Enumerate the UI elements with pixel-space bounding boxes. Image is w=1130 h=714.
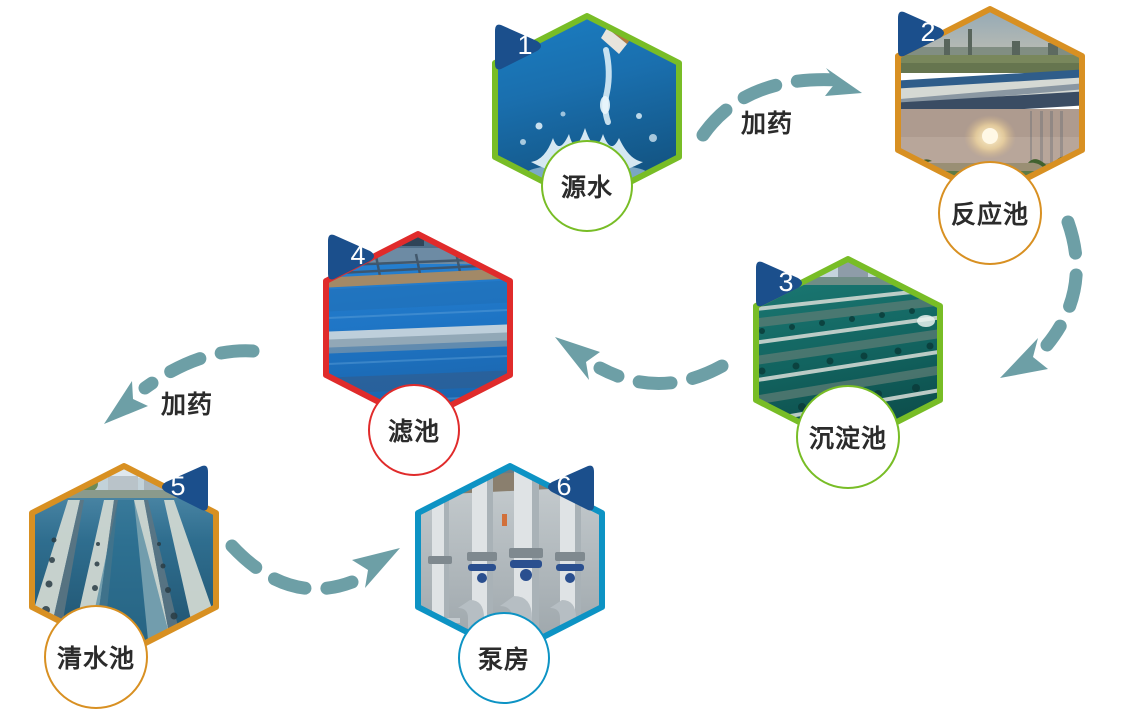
node-clear-water-tank[interactable]: 5 清水池 (24, 460, 224, 690)
node-source-water-label: 源水 (541, 140, 633, 232)
node-reaction-tank-label: 反应池 (938, 161, 1042, 265)
node-source-water-number-badge: 1 (493, 22, 549, 72)
node-clear-water-tank-label: 清水池 (44, 605, 148, 709)
node-pump-house-number: 6 (556, 473, 571, 500)
node-pump-house-number-badge: 6 (540, 463, 596, 513)
node-pump-house[interactable]: 6 泵房 (410, 460, 610, 690)
node-reaction-tank[interactable]: 2 反应池 (890, 3, 1090, 233)
node-clear-water-tank-number-badge: 5 (154, 463, 210, 513)
node-source-water[interactable]: 1 源水 (487, 10, 687, 240)
node-filter-tank[interactable]: 4 滤池 (318, 228, 518, 458)
node-reaction-tank-number-badge: 2 (896, 9, 952, 59)
connector-label-dosing-1: 加药 (741, 104, 793, 140)
connector-arrow-3-4 (555, 337, 722, 384)
node-sedimentation-tank-number: 3 (778, 269, 793, 296)
node-clear-water-tank-number: 5 (170, 473, 185, 500)
node-sedimentation-tank[interactable]: 3 沉淀池 (748, 253, 948, 483)
node-filter-tank-number: 4 (350, 242, 365, 269)
node-sedimentation-tank-number-badge: 3 (754, 259, 810, 309)
connector-label-dosing-2: 加药 (161, 385, 213, 421)
connector-arrow-5-6 (232, 546, 400, 589)
process-flow-diagram: 加药 加药 (0, 0, 1130, 714)
node-sedimentation-tank-label: 沉淀池 (796, 385, 900, 489)
node-pump-house-label: 泵房 (458, 612, 550, 704)
node-filter-tank-label: 滤池 (368, 384, 460, 476)
node-filter-tank-number-badge: 4 (326, 232, 382, 282)
node-reaction-tank-number: 2 (920, 19, 935, 46)
node-source-water-number: 1 (517, 32, 532, 59)
